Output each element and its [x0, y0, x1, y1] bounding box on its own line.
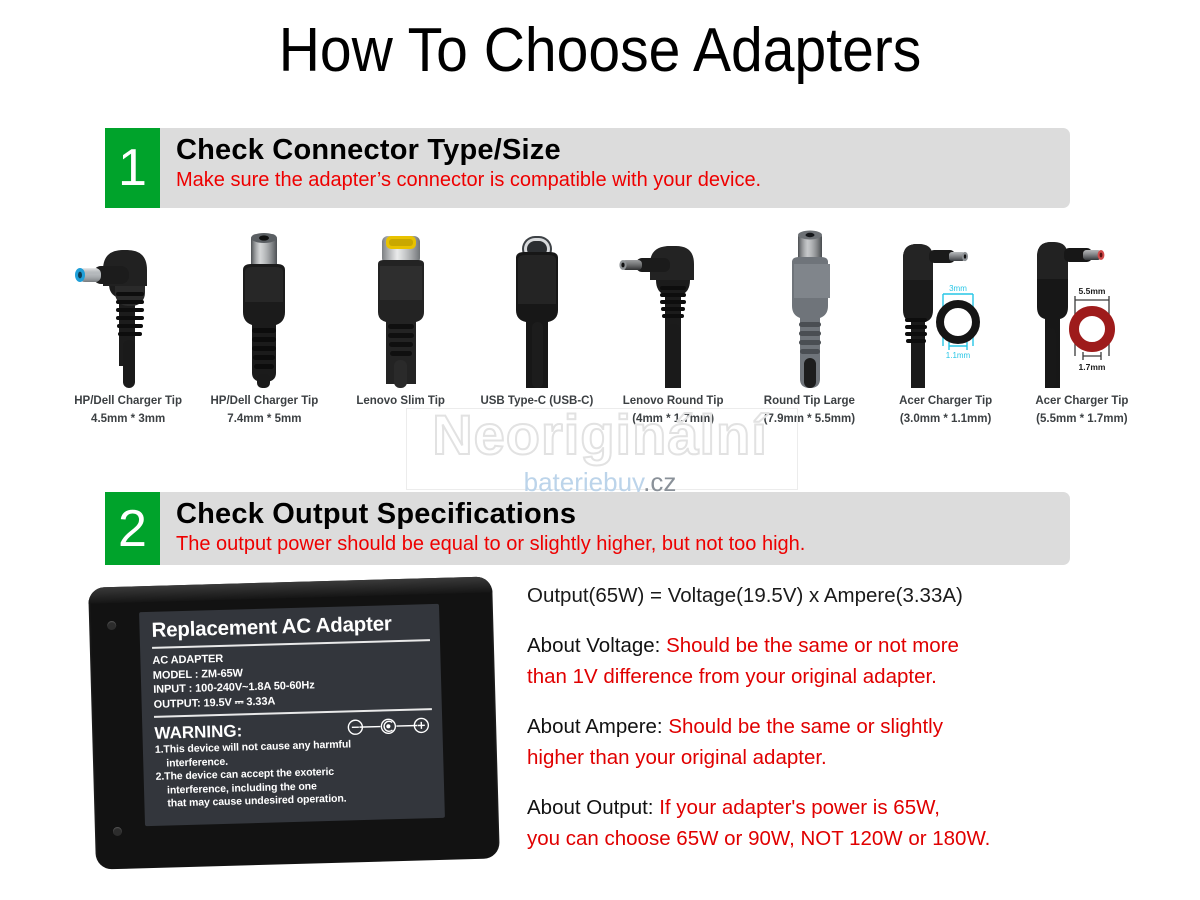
svg-text:1.1mm: 1.1mm — [945, 351, 970, 360]
about-output-line2: you can choose 65W or 90W, NOT 120W or 1… — [527, 827, 990, 850]
acer-tip-3mm-icon: 3mm 1.1mm — [878, 228, 1014, 388]
step-1-number: 1 — [105, 128, 160, 208]
acer-3mm-callout: 3mm 1.1mm — [940, 284, 976, 360]
about-ampere-line2: higher than your original adapter. — [527, 746, 827, 769]
adapter-label-title: Replacement AC Adapter — [151, 610, 430, 644]
svg-text:3mm: 3mm — [949, 284, 967, 293]
acer-55mm-callout: 5.5mm 1.7mm — [1074, 286, 1110, 372]
about-output-label: About Output: — [527, 796, 654, 819]
step-1-header: 1 Check Connector Type/Size Make sure th… — [105, 128, 1070, 208]
step-1-subtitle: Make sure the adapter’s connector is com… — [176, 167, 1070, 193]
polarity-symbol-icon — [346, 716, 430, 736]
about-ampere-label: About Ampere: — [527, 715, 663, 738]
adapter-label-plate: Replacement AC Adapter AC ADAPTER MODEL … — [139, 604, 445, 826]
step-1-title: Check Connector Type/Size — [176, 133, 1070, 167]
acer-tip-55mm-icon: 5.5mm 1.7mm — [1014, 228, 1150, 388]
about-ampere: About Ampere: Should be the same or slig… — [527, 711, 1167, 773]
svg-text:5.5mm: 5.5mm — [1078, 286, 1105, 296]
lenovo-round-tip-icon — [605, 228, 741, 388]
output-formula: Output(65W) = Voltage(19.5V) x Ampere(3.… — [527, 582, 1167, 610]
about-voltage-line1: Should be the same or not more — [660, 634, 959, 657]
step-2-title: Check Output Specifications — [176, 497, 1070, 531]
about-voltage-line2: than 1V difference from your original ad… — [527, 665, 937, 688]
about-output: About Output: If your adapter's power is… — [527, 792, 1167, 854]
step-2-text-block: Check Output Specifications The output p… — [160, 492, 1070, 565]
screw-dot — [107, 621, 116, 630]
infographic-page: How To Choose Adapters 1 Check Connector… — [0, 0, 1200, 900]
adapter-warning-list: 1.This device will not cause any harmful… — [155, 736, 435, 812]
watermark-text: Neoriginální — [0, 405, 1200, 465]
page-title: How To Choose Adapters — [48, 14, 1152, 88]
screw-dot — [113, 827, 122, 836]
svg-text:1.7mm: 1.7mm — [1078, 362, 1105, 372]
round-tip-large-icon — [741, 228, 877, 388]
hp-dell-blue-tip-icon — [60, 228, 196, 388]
lenovo-slim-tip-icon — [333, 228, 469, 388]
step-1-text-block: Check Connector Type/Size Make sure the … — [160, 128, 1070, 208]
output-spec-explanations: Output(65W) = Voltage(19.5V) x Ampere(3.… — [527, 582, 1167, 873]
ac-adapter-photo: Replacement AC Adapter AC ADAPTER MODEL … — [86, 572, 506, 882]
step-2-number: 2 — [105, 492, 160, 565]
about-ampere-line1: Should be the same or slightly — [663, 715, 943, 738]
about-output-line1: If your adapter's power is 65W, — [654, 796, 941, 819]
about-voltage: About Voltage: Should be the same or not… — [527, 630, 1167, 692]
step-2-header: 2 Check Output Specifications The output… — [105, 492, 1070, 565]
about-voltage-label: About Voltage: — [527, 634, 660, 657]
usb-type-c-icon — [469, 228, 605, 388]
step-2-subtitle: The output power should be equal to or s… — [176, 531, 1070, 557]
hp-dell-barrel-tip-icon — [196, 228, 332, 388]
